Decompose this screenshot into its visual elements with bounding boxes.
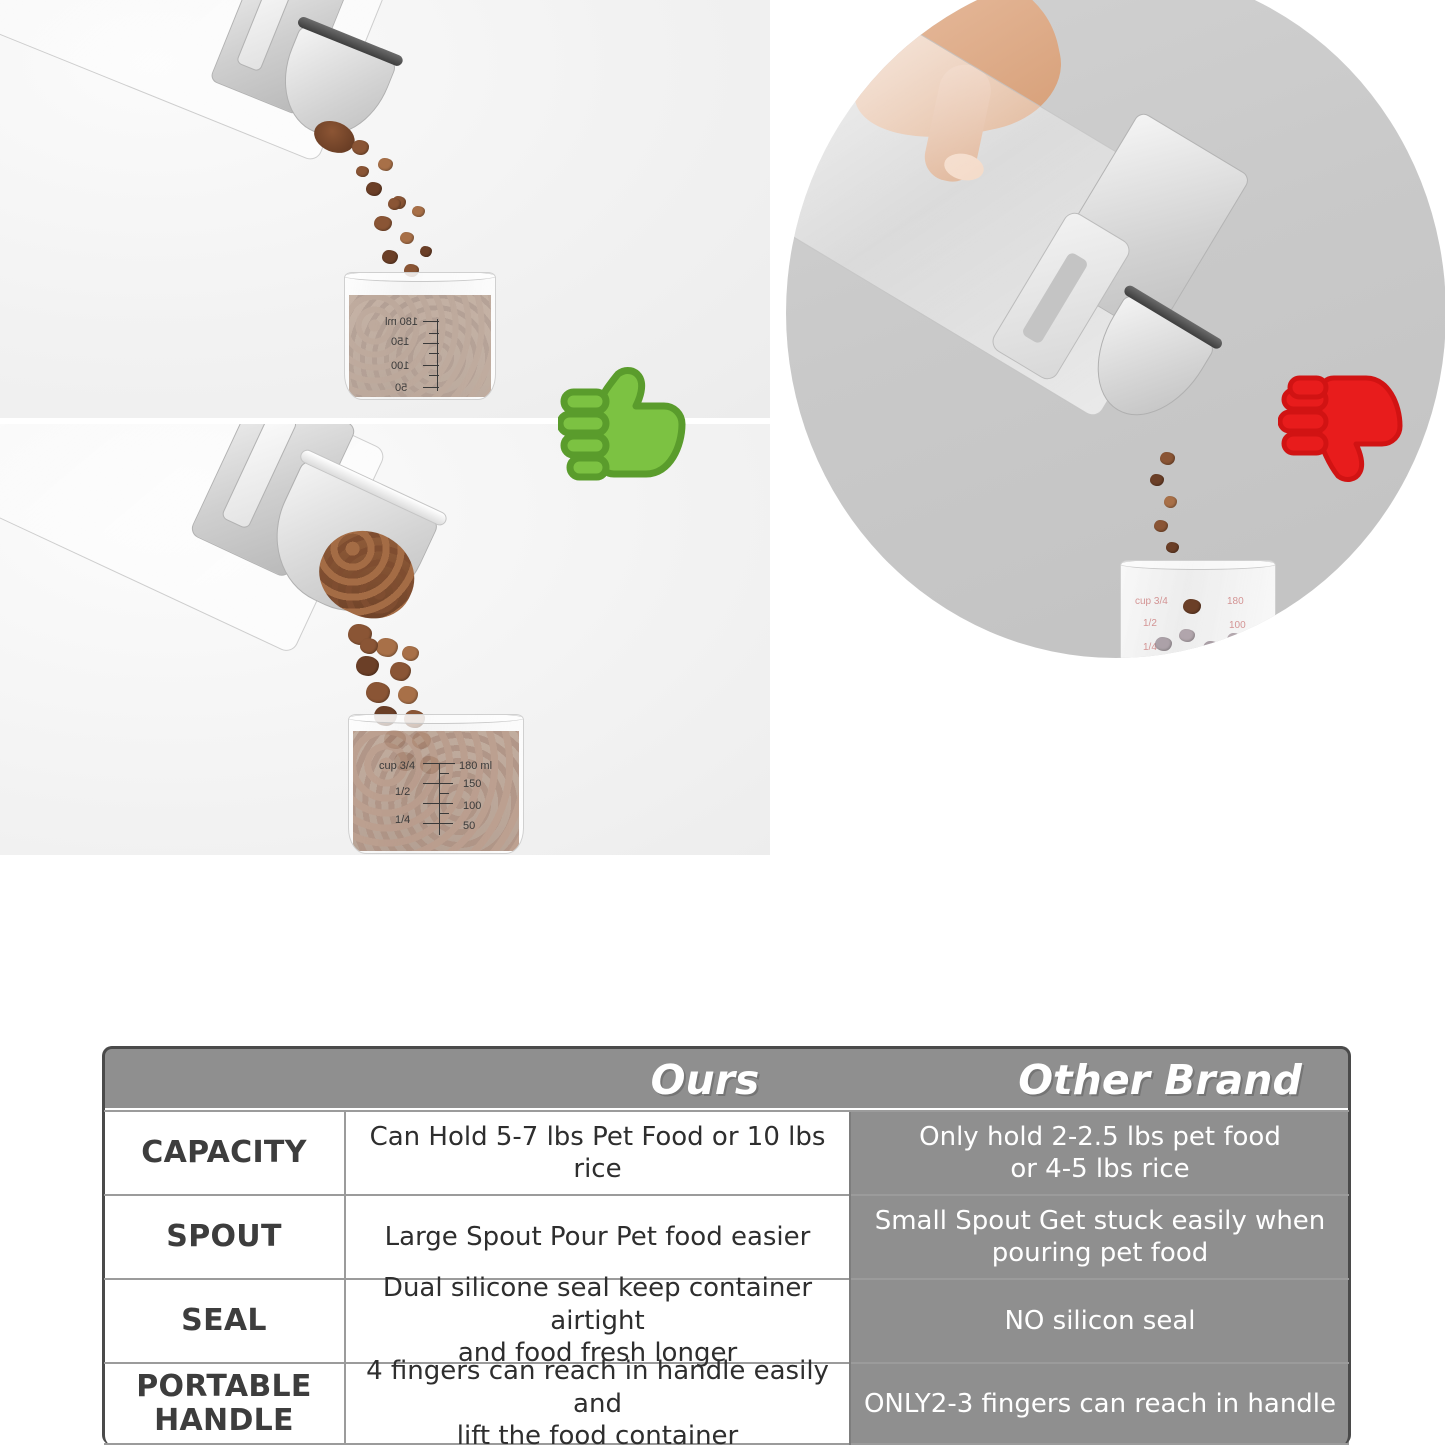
cup-mark-half: 1/2 <box>395 787 410 798</box>
cup-mark-cup34: cup 3/4 <box>1135 597 1168 607</box>
cup-mark-cup34: cup 3/4 <box>379 761 415 772</box>
cup-mark-100: 100 <box>391 361 409 372</box>
cup-mark-50: 50 <box>395 383 407 394</box>
cup-mark-180: 180 ml <box>385 317 418 328</box>
table-cell-other-seal: NO silicon seal <box>851 1280 1349 1362</box>
table-cell-other-capacity: Only hold 2-2.5 lbs pet food or 4-5 lbs … <box>851 1112 1349 1194</box>
measuring-cup: cup 3/4 1/2 1/4 180 ml 150 100 50 <box>348 714 524 854</box>
table-row-label-portable-handle: PORTABLE HANDLE <box>104 1364 344 1444</box>
ours-pouring-narrow-photo: 180 ml 150 100 50 <box>0 0 770 418</box>
cup-mark-150: 150 <box>463 779 481 790</box>
cup-mark-100: 100 <box>1229 621 1246 631</box>
measuring-cup: cup 3/4 1/2 1/4 180 100 <box>1120 560 1276 658</box>
cup-mark-180: 180 <box>1227 597 1244 607</box>
table-cell-ours-capacity: Can Hold 5-7 lbs Pet Food or 10 lbs rice <box>348 1112 847 1194</box>
product-comparison-infographic: 180 ml 150 100 50 <box>0 0 1445 1445</box>
ours-pouring-wide-photo: cup 3/4 1/2 1/4 180 ml 150 100 50 <box>0 424 770 855</box>
cup-mark-150: 150 <box>391 337 409 348</box>
cup-mark-50: 50 <box>463 821 475 832</box>
cup-mark-quarter: 1/4 <box>395 815 410 826</box>
table-row-label-spout: SPOUT <box>104 1196 344 1278</box>
table-cell-other-portable-handle: ONLY2-3 fingers can reach in handle <box>851 1364 1349 1444</box>
comparison-table: Ours Other Brand CAPACITY Can Hold 5-7 l… <box>100 1044 1353 1445</box>
table-cell-other-spout: Small Spout Get stuck easily when pourin… <box>851 1196 1349 1278</box>
measuring-cup: 180 ml 150 100 50 <box>344 272 496 400</box>
cup-mark-180: 180 ml <box>459 761 492 772</box>
other-brand-photo: cup 3/4 1/2 1/4 180 100 <box>786 0 1445 668</box>
cup-mark-100: 100 <box>463 801 481 812</box>
table-cell-ours-seal: Dual silicone seal keep container airtig… <box>348 1280 847 1362</box>
table-row-label-seal: SEAL <box>104 1280 344 1362</box>
headline-section: How To Choose A Good Portable PETFOOD Co… <box>0 858 1445 1038</box>
cup-mark-half: 1/2 <box>1143 619 1157 629</box>
thumbs-up-icon <box>558 362 686 486</box>
table-cell-ours-portable-handle: 4 fingers can reach in handle easily and… <box>348 1364 847 1444</box>
table-cell-ours-spout: Large Spout Pour Pet food easier <box>348 1196 847 1278</box>
table-row-label-capacity: CAPACITY <box>104 1112 344 1194</box>
thumbs-down-icon <box>1278 366 1404 488</box>
photo-collage: 180 ml 150 100 50 <box>0 0 1445 855</box>
